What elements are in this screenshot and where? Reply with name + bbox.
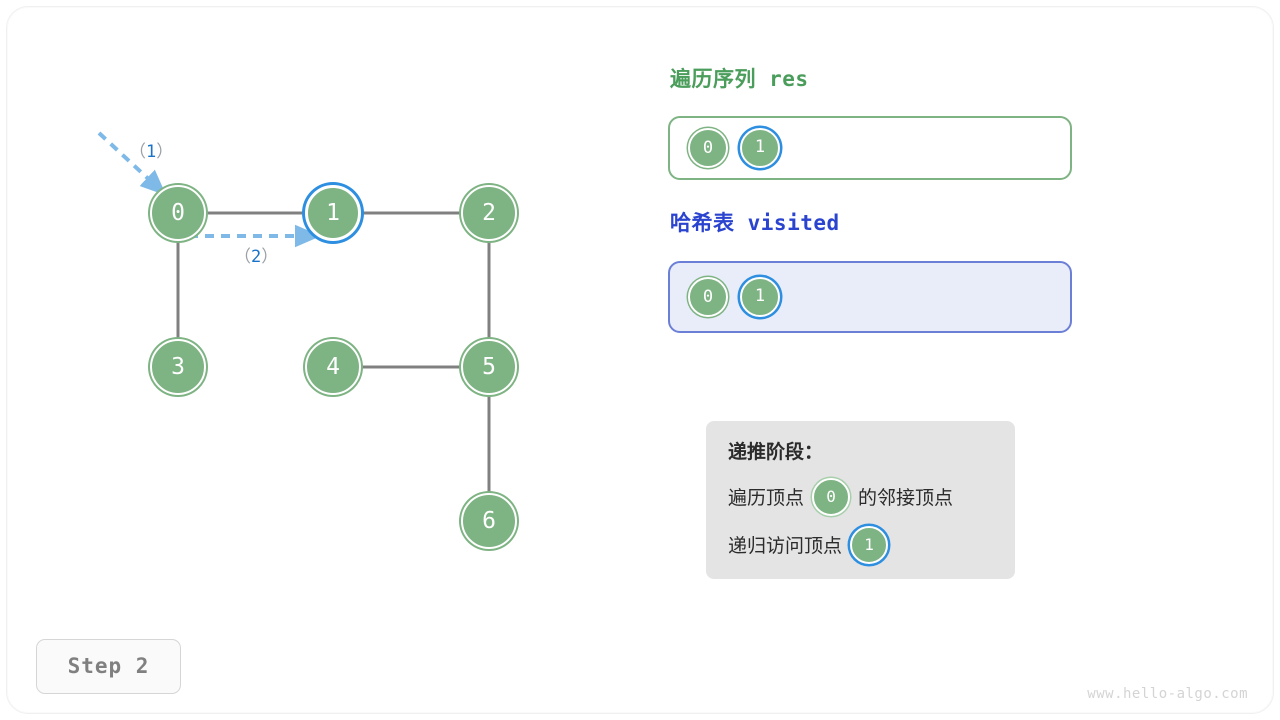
visited-panel-title: 哈希表 visited [670,207,840,237]
res-chip-0[interactable]: 0 [688,128,728,168]
step-badge: Step 2 [36,639,181,694]
graph-node-1[interactable]: 1 [305,185,361,241]
graph-node-0[interactable]: 0 [150,185,206,241]
arrow-label-1-number: 1 [146,142,156,162]
info-line-1-chip: 0 [812,478,850,516]
diagram-canvas: 0 1 2 3 4 5 6 （1） （2） 遍历序列 res 0 1 哈希表 v… [0,0,1280,720]
graph-node-3[interactable]: 3 [150,339,206,395]
arrow-label-1-open: （ [129,142,146,162]
graph-node-4[interactable]: 4 [305,339,361,395]
arrow-label-1-close: ） [156,142,173,162]
info-card-line-2: 递归访问顶点 1 [728,526,993,564]
visited-chip-0[interactable]: 0 [688,277,728,317]
info-card-heading: 递推阶段： [728,443,993,464]
info-line-1-suffix: 的邻接顶点 [858,483,953,510]
info-line-2-prefix: 递归访问顶点 [728,531,842,558]
visited-panel-box: 0 1 [668,261,1072,333]
res-panel-title: 遍历序列 res [670,63,809,93]
arrow-label-2-number: 2 [251,247,261,267]
res-panel-box: 0 1 [668,116,1072,180]
info-line-1-prefix: 遍历顶点 [728,483,804,510]
visited-chip-1[interactable]: 1 [740,277,780,317]
info-card-line-1: 遍历顶点 0 的邻接顶点 [728,478,993,516]
arrow-label-1: （1） [129,137,173,162]
graph-node-5[interactable]: 5 [461,339,517,395]
arrow-label-2-open: （ [234,247,251,267]
res-chip-1[interactable]: 1 [740,128,780,168]
info-card: 递推阶段： 遍历顶点 0 的邻接顶点 递归访问顶点 1 [706,421,1015,579]
info-line-2-chip: 1 [850,526,888,564]
graph-node-6[interactable]: 6 [461,493,517,549]
arrow-label-2: （2） [234,242,278,267]
arrow-label-2-close: ） [261,247,278,267]
footer-watermark: www.hello-algo.com [1087,686,1248,702]
graph-node-2[interactable]: 2 [461,185,517,241]
